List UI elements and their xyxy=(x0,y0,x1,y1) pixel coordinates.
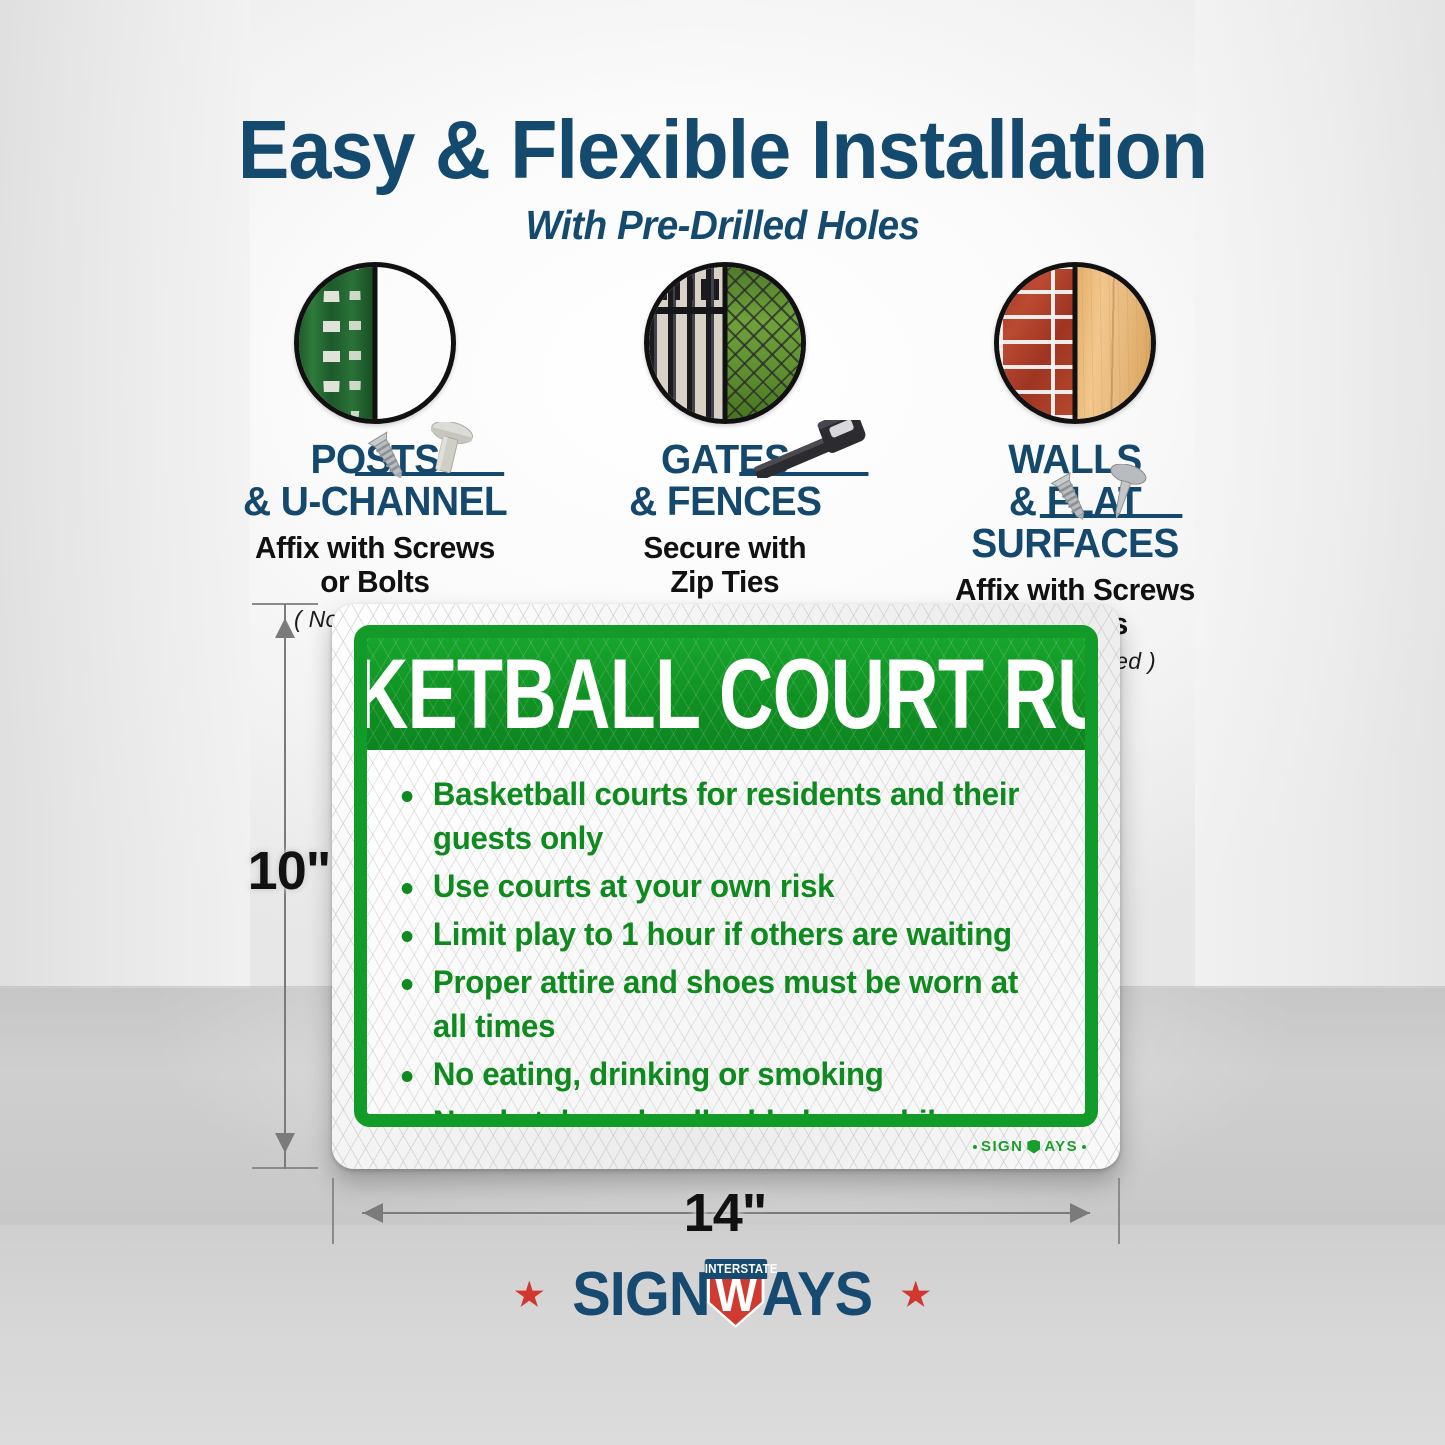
sign-rules-list: Basketball courts for residents and thei… xyxy=(391,772,1065,1127)
watermark-text-right: AYS xyxy=(1044,1138,1078,1155)
sign-green-border: BASKETBALL COURT RULES Basketball courts… xyxy=(354,625,1098,1127)
chain-link-fence-icon xyxy=(725,267,801,419)
method-heading: GATES & FENCES xyxy=(629,438,821,522)
green-u-channel-post-icon xyxy=(299,267,375,419)
star-icon-right xyxy=(901,1281,931,1310)
method-instruction-line2: Zip Ties xyxy=(671,564,780,599)
image-split-divider xyxy=(1073,267,1078,419)
walls-flat-surfaces-image xyxy=(994,262,1156,424)
sign-rules-panel: Basketball courts for residents and thei… xyxy=(367,750,1085,1114)
shield-letter: W xyxy=(715,1272,756,1320)
posts-u-channel-image xyxy=(294,262,456,424)
zip-tie-icon xyxy=(733,420,876,478)
watermark-dot-left xyxy=(973,1145,977,1149)
method-instruction-line1: Affix with Screws xyxy=(255,530,495,565)
method-instruction-line2: or Bolts xyxy=(320,564,429,599)
wood-plank-icon xyxy=(1075,267,1151,419)
image-split-divider xyxy=(373,267,378,419)
brand-word-left: SIGN xyxy=(573,1264,710,1326)
header: Easy & Flexible Installation With Pre-Dr… xyxy=(0,106,1445,248)
method-gates-fences: GATES & FENCES Secure with Zip Ties ( No… xyxy=(560,262,890,632)
method-heading-line2: & FENCES xyxy=(629,480,821,522)
image-split-divider xyxy=(723,267,728,419)
height-arrow-down-icon xyxy=(275,1133,295,1153)
star-icon-left xyxy=(514,1281,544,1310)
watermark-shield-icon xyxy=(1027,1140,1040,1154)
brand-word-right: AYS xyxy=(762,1264,872,1326)
page-subtitle: With Pre-Drilled Holes xyxy=(43,202,1401,248)
width-tick-right xyxy=(1118,1178,1120,1244)
gates-fences-image xyxy=(644,262,806,424)
width-arrow-right-icon xyxy=(1070,1203,1090,1223)
width-arrow-left-icon xyxy=(363,1203,383,1223)
installation-methods: POSTS & U-CHANNEL xyxy=(210,262,1240,592)
method-posts-u-channel: POSTS & U-CHANNEL xyxy=(210,262,540,632)
shield-banner-label: INTERSTATE xyxy=(705,1259,767,1279)
product-sign: BASKETBALL COURT RULES Basketball courts… xyxy=(332,604,1120,1169)
list-item: Limit play to 1 hour if others are waiti… xyxy=(391,912,1048,956)
nail-icon xyxy=(1095,464,1163,522)
list-item: Proper attire and shoes must be worn at … xyxy=(391,960,1048,1048)
method-instruction: Secure with Zip Ties xyxy=(644,531,807,599)
backdrop-bottom-band xyxy=(0,1225,1445,1445)
width-tick-left xyxy=(332,1178,334,1244)
sign-watermark: SIGN AYS xyxy=(973,1138,1086,1155)
method-heading: WALLS & FLAT SURFACES xyxy=(918,438,1232,564)
sign-title-bar: BASKETBALL COURT RULES xyxy=(367,638,1085,750)
list-item: No eating, drinking or smoking xyxy=(391,1052,1048,1096)
interstate-shield-icon: INTERSTATE W xyxy=(707,1262,765,1328)
list-item: Basketball courts for residents and thei… xyxy=(391,772,1048,860)
list-item: Use courts at your own risk xyxy=(391,864,1048,908)
brand-wordmark: SIGN INTERSTATE W AYS xyxy=(573,1262,873,1328)
page-title: Easy & Flexible Installation xyxy=(51,106,1395,194)
watermark-text-left: SIGN xyxy=(981,1138,1023,1155)
method-heading: POSTS & U-CHANNEL xyxy=(243,438,507,522)
bolt-icon xyxy=(420,422,494,478)
method-instruction-line1: Affix with Screws xyxy=(955,572,1195,607)
method-instruction-line1: Secure with xyxy=(644,530,807,565)
brand-logo: SIGN INTERSTATE W AYS xyxy=(0,1262,1445,1328)
list-item: No skateboard, roller blades, or bikes a… xyxy=(391,1100,1048,1127)
iron-gate-icon xyxy=(649,267,725,419)
method-heading-line2: & U-CHANNEL xyxy=(243,480,507,522)
width-dimension-label: 14" xyxy=(660,1182,790,1244)
brick-wall-icon xyxy=(999,267,1075,419)
height-dimension-label: 10" xyxy=(243,840,335,902)
method-instruction: Affix with Screws or Bolts xyxy=(255,531,495,599)
sign-title: BASKETBALL COURT RULES xyxy=(367,644,1085,743)
height-arrow-up-icon xyxy=(275,618,295,638)
watermark-dot-right xyxy=(1082,1145,1086,1149)
